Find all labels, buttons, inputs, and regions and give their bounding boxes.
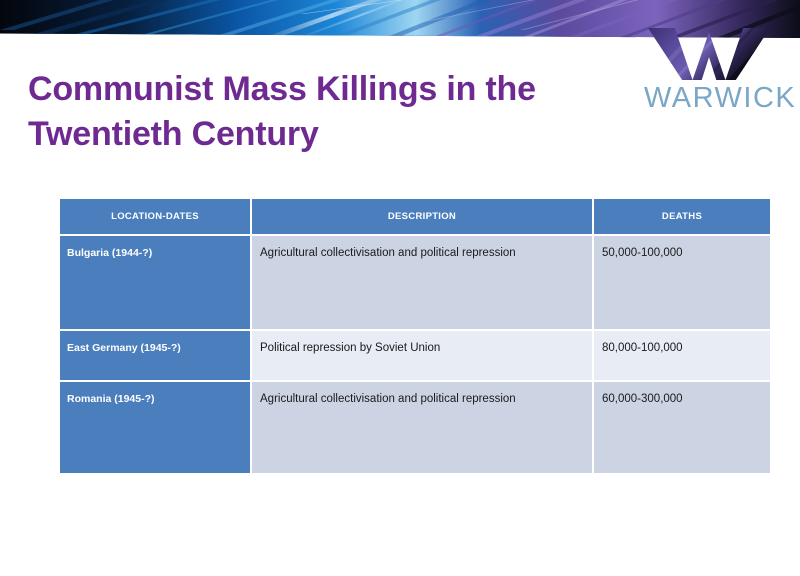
cell-deaths: 50,000-100,000 [594,236,770,329]
table-row: East Germany (1945-?) Political repressi… [60,331,770,380]
column-header-location-dates: LOCATION-DATES [60,199,250,234]
page-title-line-1: Communist Mass Killings in the [28,67,628,113]
cell-description: Political repression by Soviet Union [252,331,592,380]
table-header: LOCATION-DATES DESCRIPTION DEATHS [60,199,770,234]
cell-location: Romania (1945-?) [60,382,250,473]
warwick-logo: WARWICK [648,28,776,122]
cell-description: Agricultural collectivisation and politi… [252,236,592,329]
table-row: Bulgaria (1944-?) Agricultural collectiv… [60,236,770,329]
slide-canvas: WARWICK Communist Mass Killings in the T… [0,0,800,576]
table-header-row: LOCATION-DATES DESCRIPTION DEATHS [60,199,770,234]
mass-killings-table-container: LOCATION-DATES DESCRIPTION DEATHS Bulgar… [60,199,766,473]
cell-location: Bulgaria (1944-?) [60,236,250,329]
column-header-description: DESCRIPTION [252,199,592,234]
warwick-wordmark: WARWICK [644,82,796,115]
cell-deaths: 60,000-300,000 [594,382,770,473]
mass-killings-table: LOCATION-DATES DESCRIPTION DEATHS Bulgar… [58,197,772,475]
cell-deaths: 80,000-100,000 [594,331,770,380]
page-title-line-2: Twentieth Century [28,112,628,158]
table-row: Romania (1945-?) Agricultural collectivi… [60,382,770,473]
cell-location: East Germany (1945-?) [60,331,250,380]
table-body: Bulgaria (1944-?) Agricultural collectiv… [60,236,770,473]
cell-description: Agricultural collectivisation and politi… [252,382,592,473]
column-header-deaths: DEATHS [594,199,770,234]
page-title: Communist Mass Killings in the Twentieth… [28,67,628,158]
warwick-w-mark-icon [648,28,770,80]
